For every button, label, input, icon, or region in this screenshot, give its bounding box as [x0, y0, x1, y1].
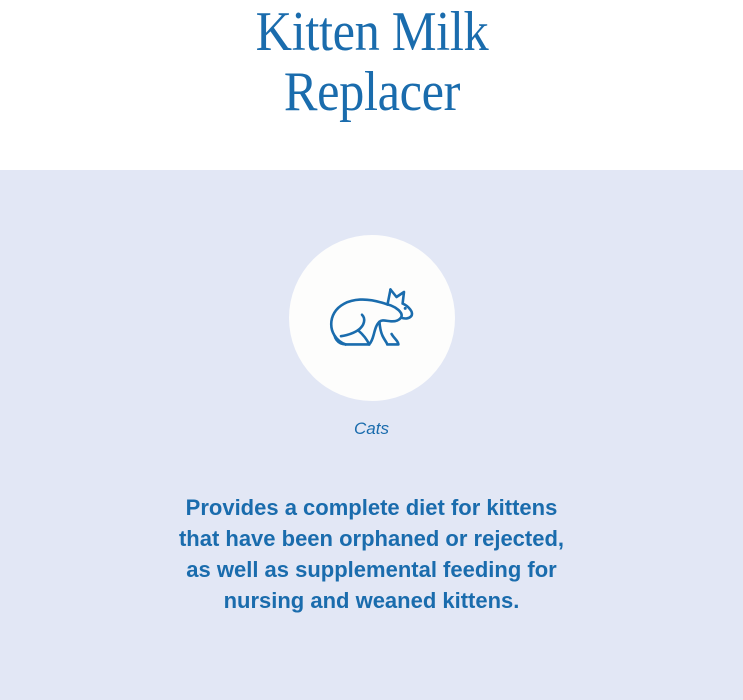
species-icon-circle	[289, 235, 455, 401]
product-info-page: Kitten Milk Replacer	[0, 0, 743, 700]
species-label: Cats	[354, 419, 389, 439]
product-description: Provides a complete diet for kittens tha…	[0, 492, 743, 616]
description-line-4: nursing and weaned kittens.	[0, 585, 743, 616]
species-badge: Cats	[0, 235, 743, 439]
cat-icon	[320, 266, 424, 370]
description-line-3: as well as supplemental feeding for	[0, 554, 743, 585]
page-title-line-2: Replacer	[283, 61, 459, 123]
header-band: Kitten Milk Replacer	[0, 0, 743, 170]
page-title-line-1: Kitten Milk	[255, 1, 488, 63]
description-line-2: that have been orphaned or rejected,	[0, 523, 743, 554]
description-line-1: Provides a complete diet for kittens	[0, 492, 743, 523]
page-title: Kitten Milk Replacer	[160, 0, 583, 122]
body-panel: Cats Provides a complete diet for kitten…	[0, 170, 743, 700]
